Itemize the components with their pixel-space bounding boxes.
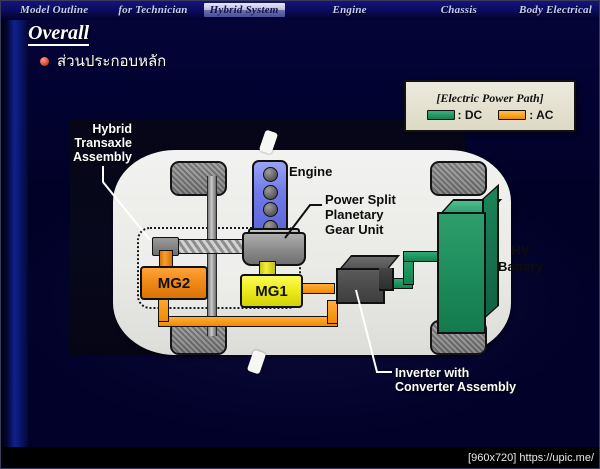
legend-items: : DC : AC (427, 108, 554, 122)
label-hv-battery-line2: Battery (498, 259, 543, 275)
label-hv-battery-line1: HV (498, 243, 543, 259)
bullet-dot-icon (40, 57, 49, 66)
engine-cylinder-3-icon (263, 202, 278, 217)
nav-tab-engine[interactable]: Engine (327, 3, 373, 17)
label-power-split-line1: Power Split (325, 192, 396, 207)
legend-title: [Electric Power Path] (436, 91, 543, 106)
label-engine: Engine (289, 164, 332, 179)
nav-tab-body-electrical[interactable]: Body Electrical (513, 3, 598, 17)
engine-cylinder-1-icon (263, 167, 278, 182)
nav-tab-for-technician[interactable]: for Technician (112, 3, 193, 17)
engine-cylinder-2-icon (263, 185, 278, 200)
label-power-split-line3: Gear Unit (325, 222, 396, 237)
nav-tab-chassis[interactable]: Chassis (435, 3, 483, 17)
inverter-side-face (379, 268, 394, 291)
label-inverter-converter-assembly: Inverter with Converter Assembly (395, 366, 516, 394)
left-accent-stripe (6, 0, 28, 447)
legend-item-dc: : DC (427, 108, 483, 122)
hv-battery-front-face (437, 212, 486, 334)
slide-stage: Model Outline for Technician Hybrid Syst… (0, 0, 600, 469)
section-heading-row: ส่วนประกอบหลัก (40, 53, 166, 70)
label-inverter-line2: Converter Assembly (395, 380, 516, 394)
label-power-split-line2: Planetary (325, 207, 396, 222)
mg1-generator: MG1 (240, 274, 303, 308)
footer-bar: [960x720] https://upic.me/ (0, 447, 600, 469)
legend-swatch-ac-icon (498, 110, 526, 120)
legend-box: [Electric Power Path] : DC : AC (404, 80, 576, 132)
presentation-slide: Model Outline for Technician Hybrid Syst… (0, 0, 600, 447)
legend-item-ac: : AC (498, 108, 553, 122)
label-inverter-line1: Inverter with (395, 366, 516, 380)
legend-swatch-dc-icon (427, 110, 455, 120)
wheel-front-right (430, 161, 487, 196)
label-power-split-unit: Power Split Planetary Gear Unit (325, 192, 396, 237)
label-hybrid-transaxle-line3: Assembly (60, 150, 132, 164)
label-hybrid-transaxle-line2: Transaxle (60, 136, 132, 150)
legend-label-dc: : DC (458, 108, 483, 122)
mg2-motor: MG2 (140, 266, 208, 300)
top-navigation-bar[interactable]: Model Outline for Technician Hybrid Syst… (0, 0, 600, 20)
dc-wire-to-battery (403, 251, 439, 262)
label-hv-battery: HV Battery (498, 243, 543, 275)
page-title: Overall (28, 22, 89, 46)
drive-axle (207, 176, 217, 336)
ac-wire-bottom-bus (158, 316, 338, 327)
nav-tab-model-outline[interactable]: Model Outline (14, 3, 94, 17)
label-hybrid-transaxle-assembly: Hybrid Transaxle Assembly (60, 122, 132, 164)
nav-tab-hybrid-system[interactable]: Hybrid System (204, 3, 285, 17)
label-hybrid-transaxle-line1: Hybrid (60, 122, 132, 136)
section-heading-label: ส่วนประกอบหลัก (57, 53, 166, 70)
footer-watermark: [960x720] https://upic.me/ (468, 452, 594, 464)
legend-label-ac: : AC (529, 108, 553, 122)
wheel-front-left (170, 161, 227, 196)
inverter-front-face (336, 268, 385, 304)
